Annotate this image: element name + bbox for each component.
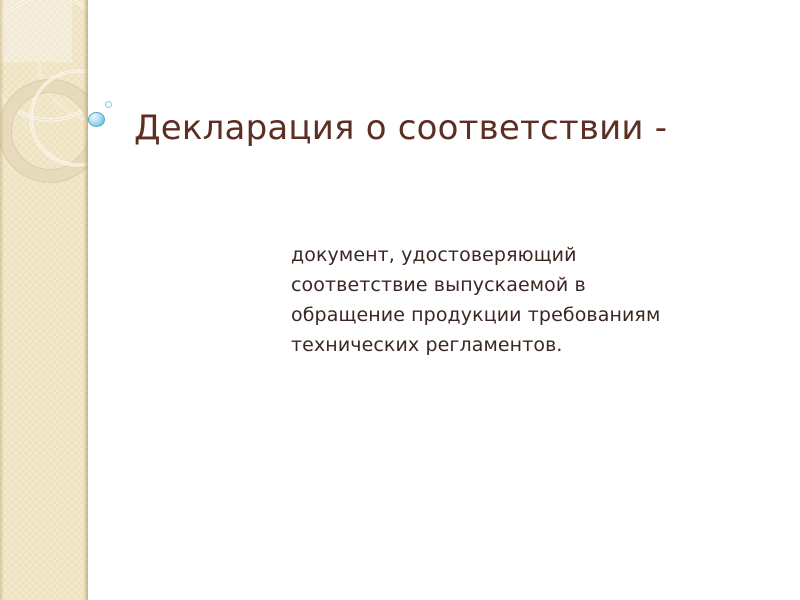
sidebar-right-edge-shading — [83, 0, 88, 600]
slide-body-text: документ, удостоверяющий соответствие вы… — [291, 240, 651, 360]
sidebar-ring-decoration — [0, 0, 88, 600]
bubble-small-icon — [105, 101, 112, 108]
large-ring — [5, 86, 88, 176]
slide-canvas: Декларация о соответствии - документ, уд… — [0, 0, 800, 600]
slide-title: Декларация о соответствии - — [134, 106, 774, 150]
sidebar-left-edge-shading — [0, 0, 4, 600]
body-line: технических регламентов. — [291, 330, 651, 360]
body-line: документ, удостоверяющий — [291, 240, 651, 270]
body-line: обращение продукции требованиям — [291, 300, 651, 330]
decorative-sidebar — [0, 0, 88, 600]
body-line: соответствие выпускаемой в — [291, 270, 651, 300]
bubble-large-icon — [88, 112, 105, 127]
